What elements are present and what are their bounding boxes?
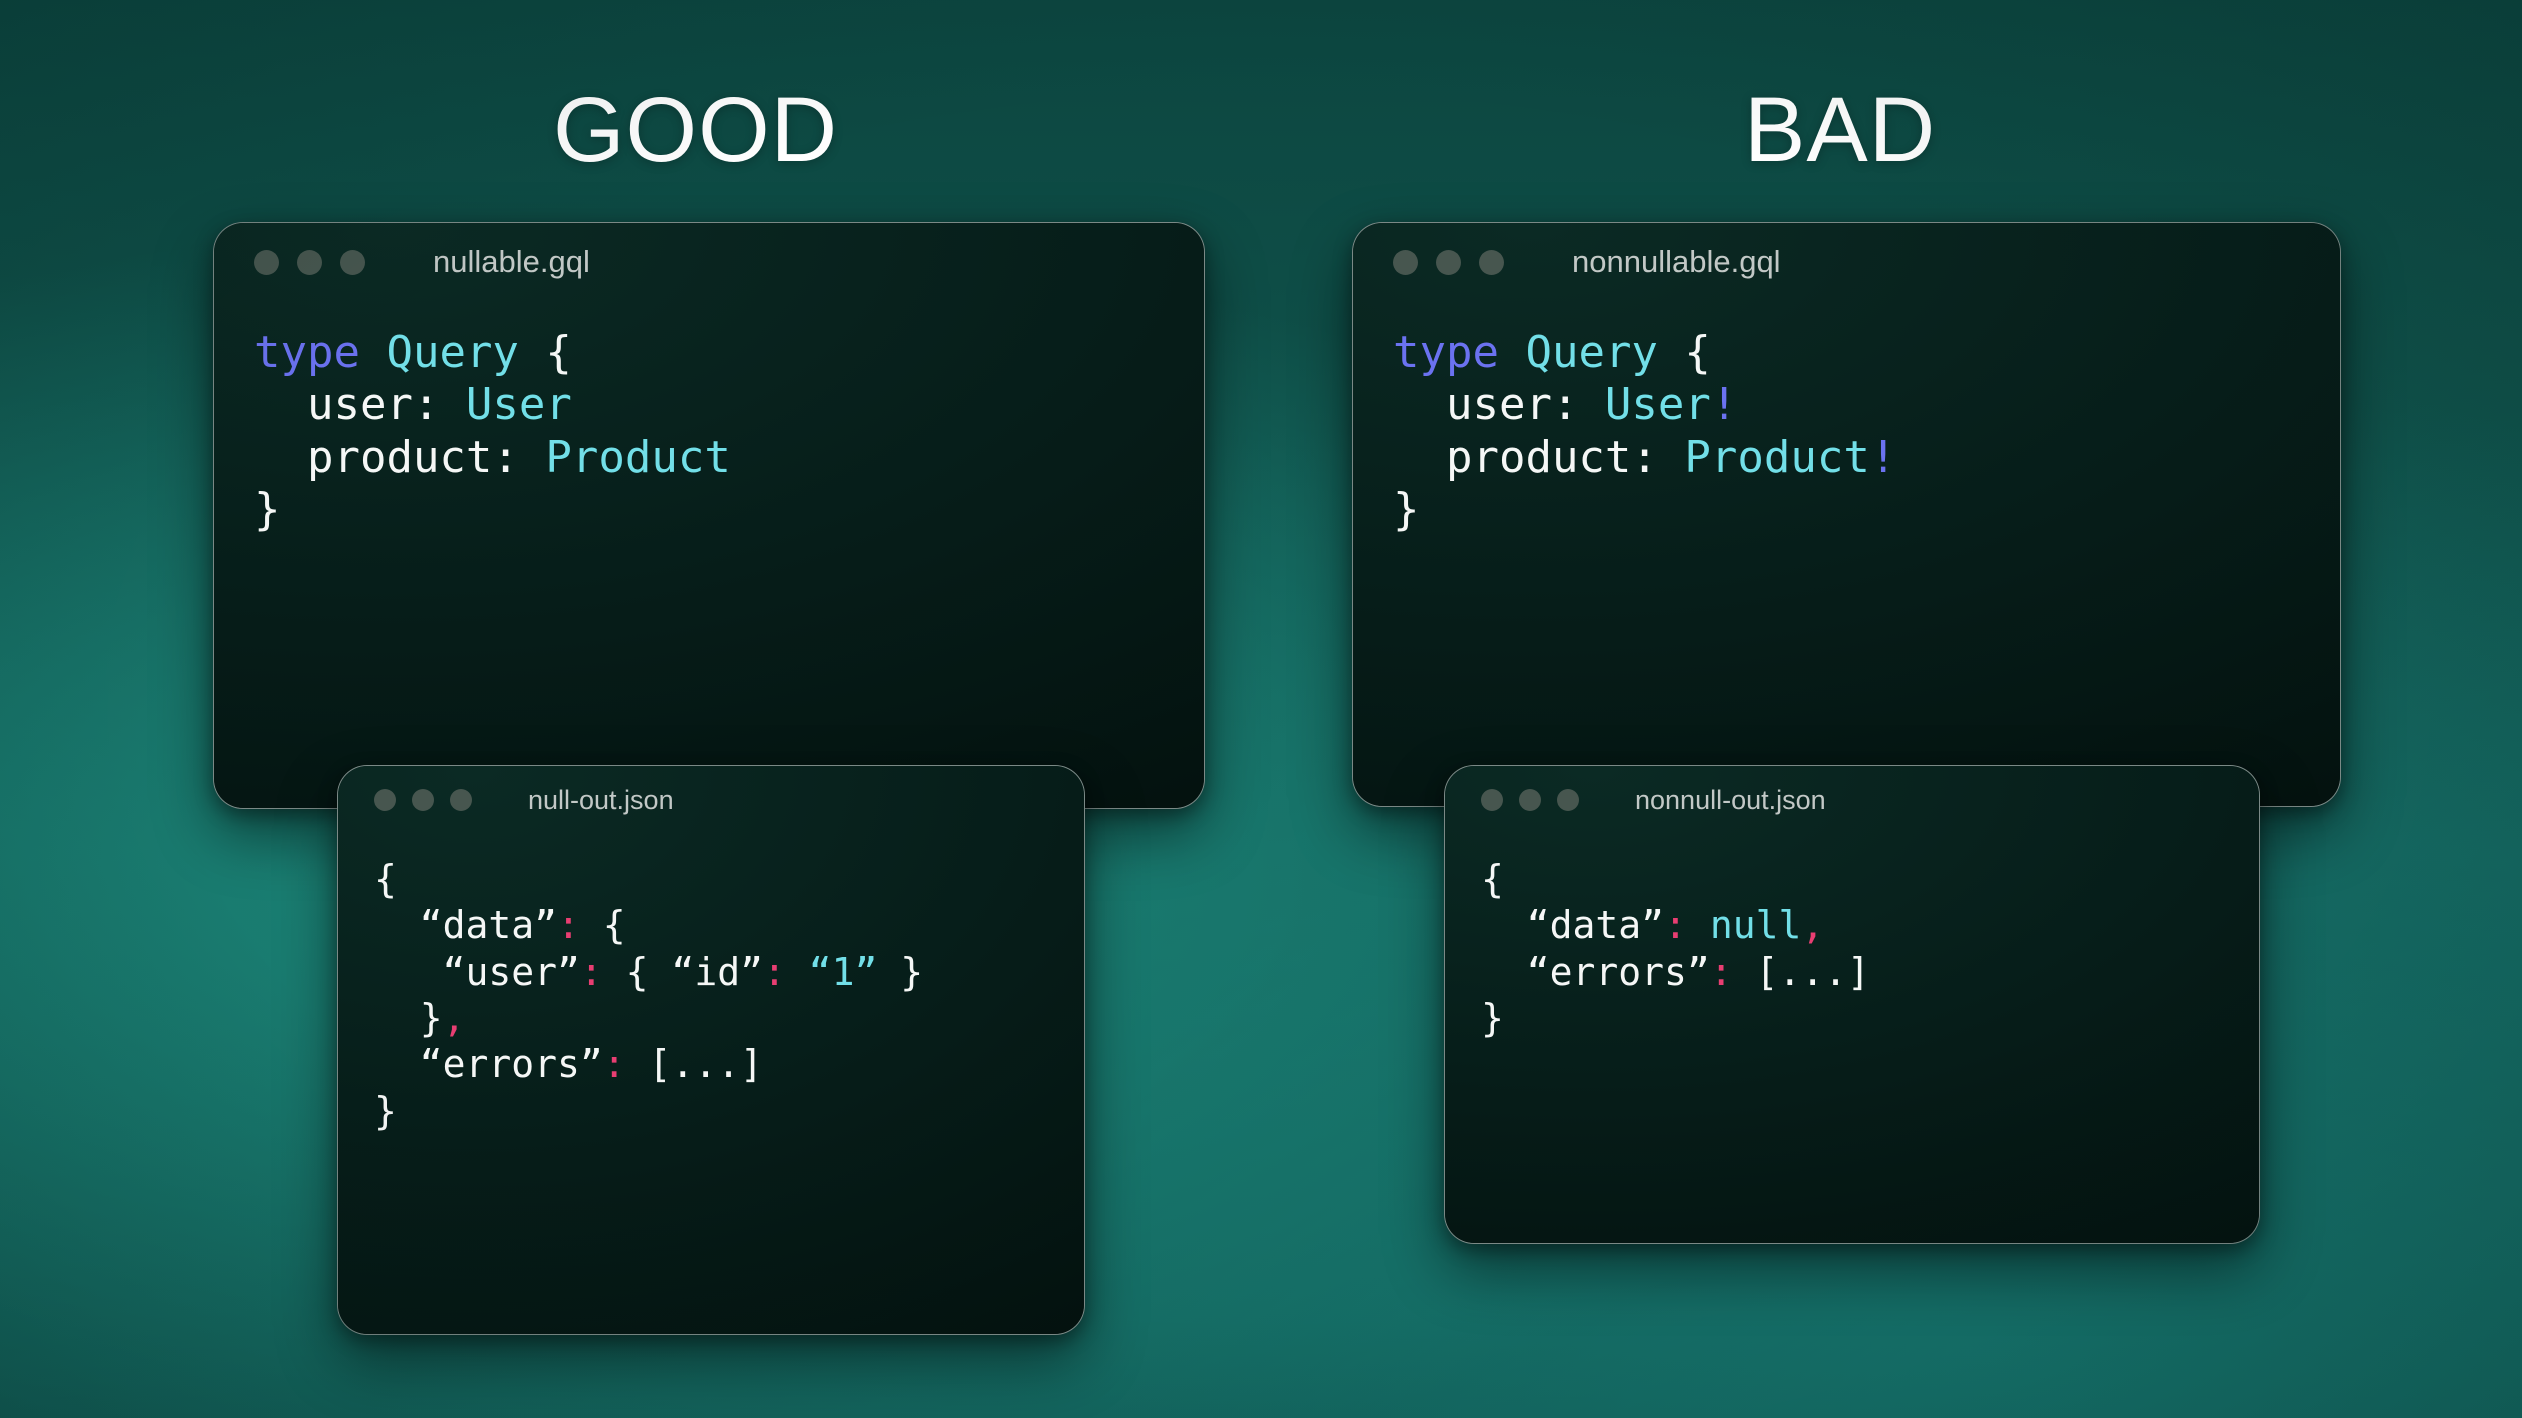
window-filename: null-out.json: [528, 785, 674, 816]
code-line: {: [1481, 856, 2259, 902]
window-dots: [1481, 789, 1579, 811]
code-block-json-nonnull-out: { “data”: null, “errors”: [...]}: [1445, 834, 2259, 1041]
window-dot-icon[interactable]: [1436, 250, 1461, 275]
window-dot-icon[interactable]: [340, 250, 365, 275]
window-titlebar: nonnull-out.json: [1445, 766, 2259, 834]
code-line: }: [1393, 484, 2340, 536]
slide-canvas: GOOD nullable.gql type Query { user: Use…: [0, 0, 2522, 1418]
window-dot-icon[interactable]: [450, 789, 472, 811]
code-line: user: User: [254, 379, 1204, 431]
code-block-graphql-nullable: type Query { user: User product: Product…: [214, 301, 1204, 536]
code-line: “data”: null,: [1481, 902, 2259, 948]
window-dot-icon[interactable]: [1393, 250, 1418, 275]
code-line: product: Product!: [1393, 432, 2340, 484]
window-dot-icon[interactable]: [1519, 789, 1541, 811]
window-dot-icon[interactable]: [1481, 789, 1503, 811]
code-line: “data”: {: [374, 902, 1084, 948]
code-line: },: [374, 995, 1084, 1041]
code-line: }: [254, 484, 1204, 536]
window-titlebar: nullable.gql: [214, 223, 1204, 301]
code-window-nullable-gql[interactable]: nullable.gql type Query { user: User pro…: [213, 222, 1205, 809]
window-filename: nonnullable.gql: [1572, 244, 1781, 280]
window-dot-icon[interactable]: [254, 250, 279, 275]
window-dot-icon[interactable]: [412, 789, 434, 811]
window-dots: [254, 250, 365, 275]
code-line: type Query {: [1393, 327, 2340, 379]
code-line: }: [1481, 995, 2259, 1041]
code-line: }: [374, 1088, 1084, 1134]
code-line: “errors”: [...]: [374, 1041, 1084, 1087]
window-dot-icon[interactable]: [297, 250, 322, 275]
code-block-json-null-out: { “data”: { “user”: { “id”: “1” } }, “er…: [338, 834, 1084, 1134]
code-line: {: [374, 856, 1084, 902]
window-filename: nonnull-out.json: [1635, 785, 1826, 816]
window-dot-icon[interactable]: [1557, 789, 1579, 811]
code-window-null-out-json[interactable]: null-out.json { “data”: { “user”: { “id”…: [337, 765, 1085, 1335]
code-line: user: User!: [1393, 379, 2340, 431]
code-block-graphql-nonnullable: type Query { user: User! product: Produc…: [1353, 301, 2340, 536]
window-titlebar: null-out.json: [338, 766, 1084, 834]
window-dot-icon[interactable]: [374, 789, 396, 811]
window-filename: nullable.gql: [433, 244, 590, 280]
window-titlebar: nonnullable.gql: [1353, 223, 2340, 301]
code-line: “errors”: [...]: [1481, 949, 2259, 995]
window-dot-icon[interactable]: [1479, 250, 1504, 275]
code-window-nonnull-out-json[interactable]: nonnull-out.json { “data”: null, “errors…: [1444, 765, 2260, 1244]
window-dots: [374, 789, 472, 811]
code-line: product: Product: [254, 432, 1204, 484]
code-window-nonnullable-gql[interactable]: nonnullable.gql type Query { user: User!…: [1352, 222, 2341, 807]
code-line: type Query {: [254, 327, 1204, 379]
code-line: “user”: { “id”: “1” }: [374, 949, 1084, 995]
column-title-bad: BAD: [1744, 84, 1936, 176]
column-title-good: GOOD: [553, 84, 838, 176]
window-dots: [1393, 250, 1504, 275]
